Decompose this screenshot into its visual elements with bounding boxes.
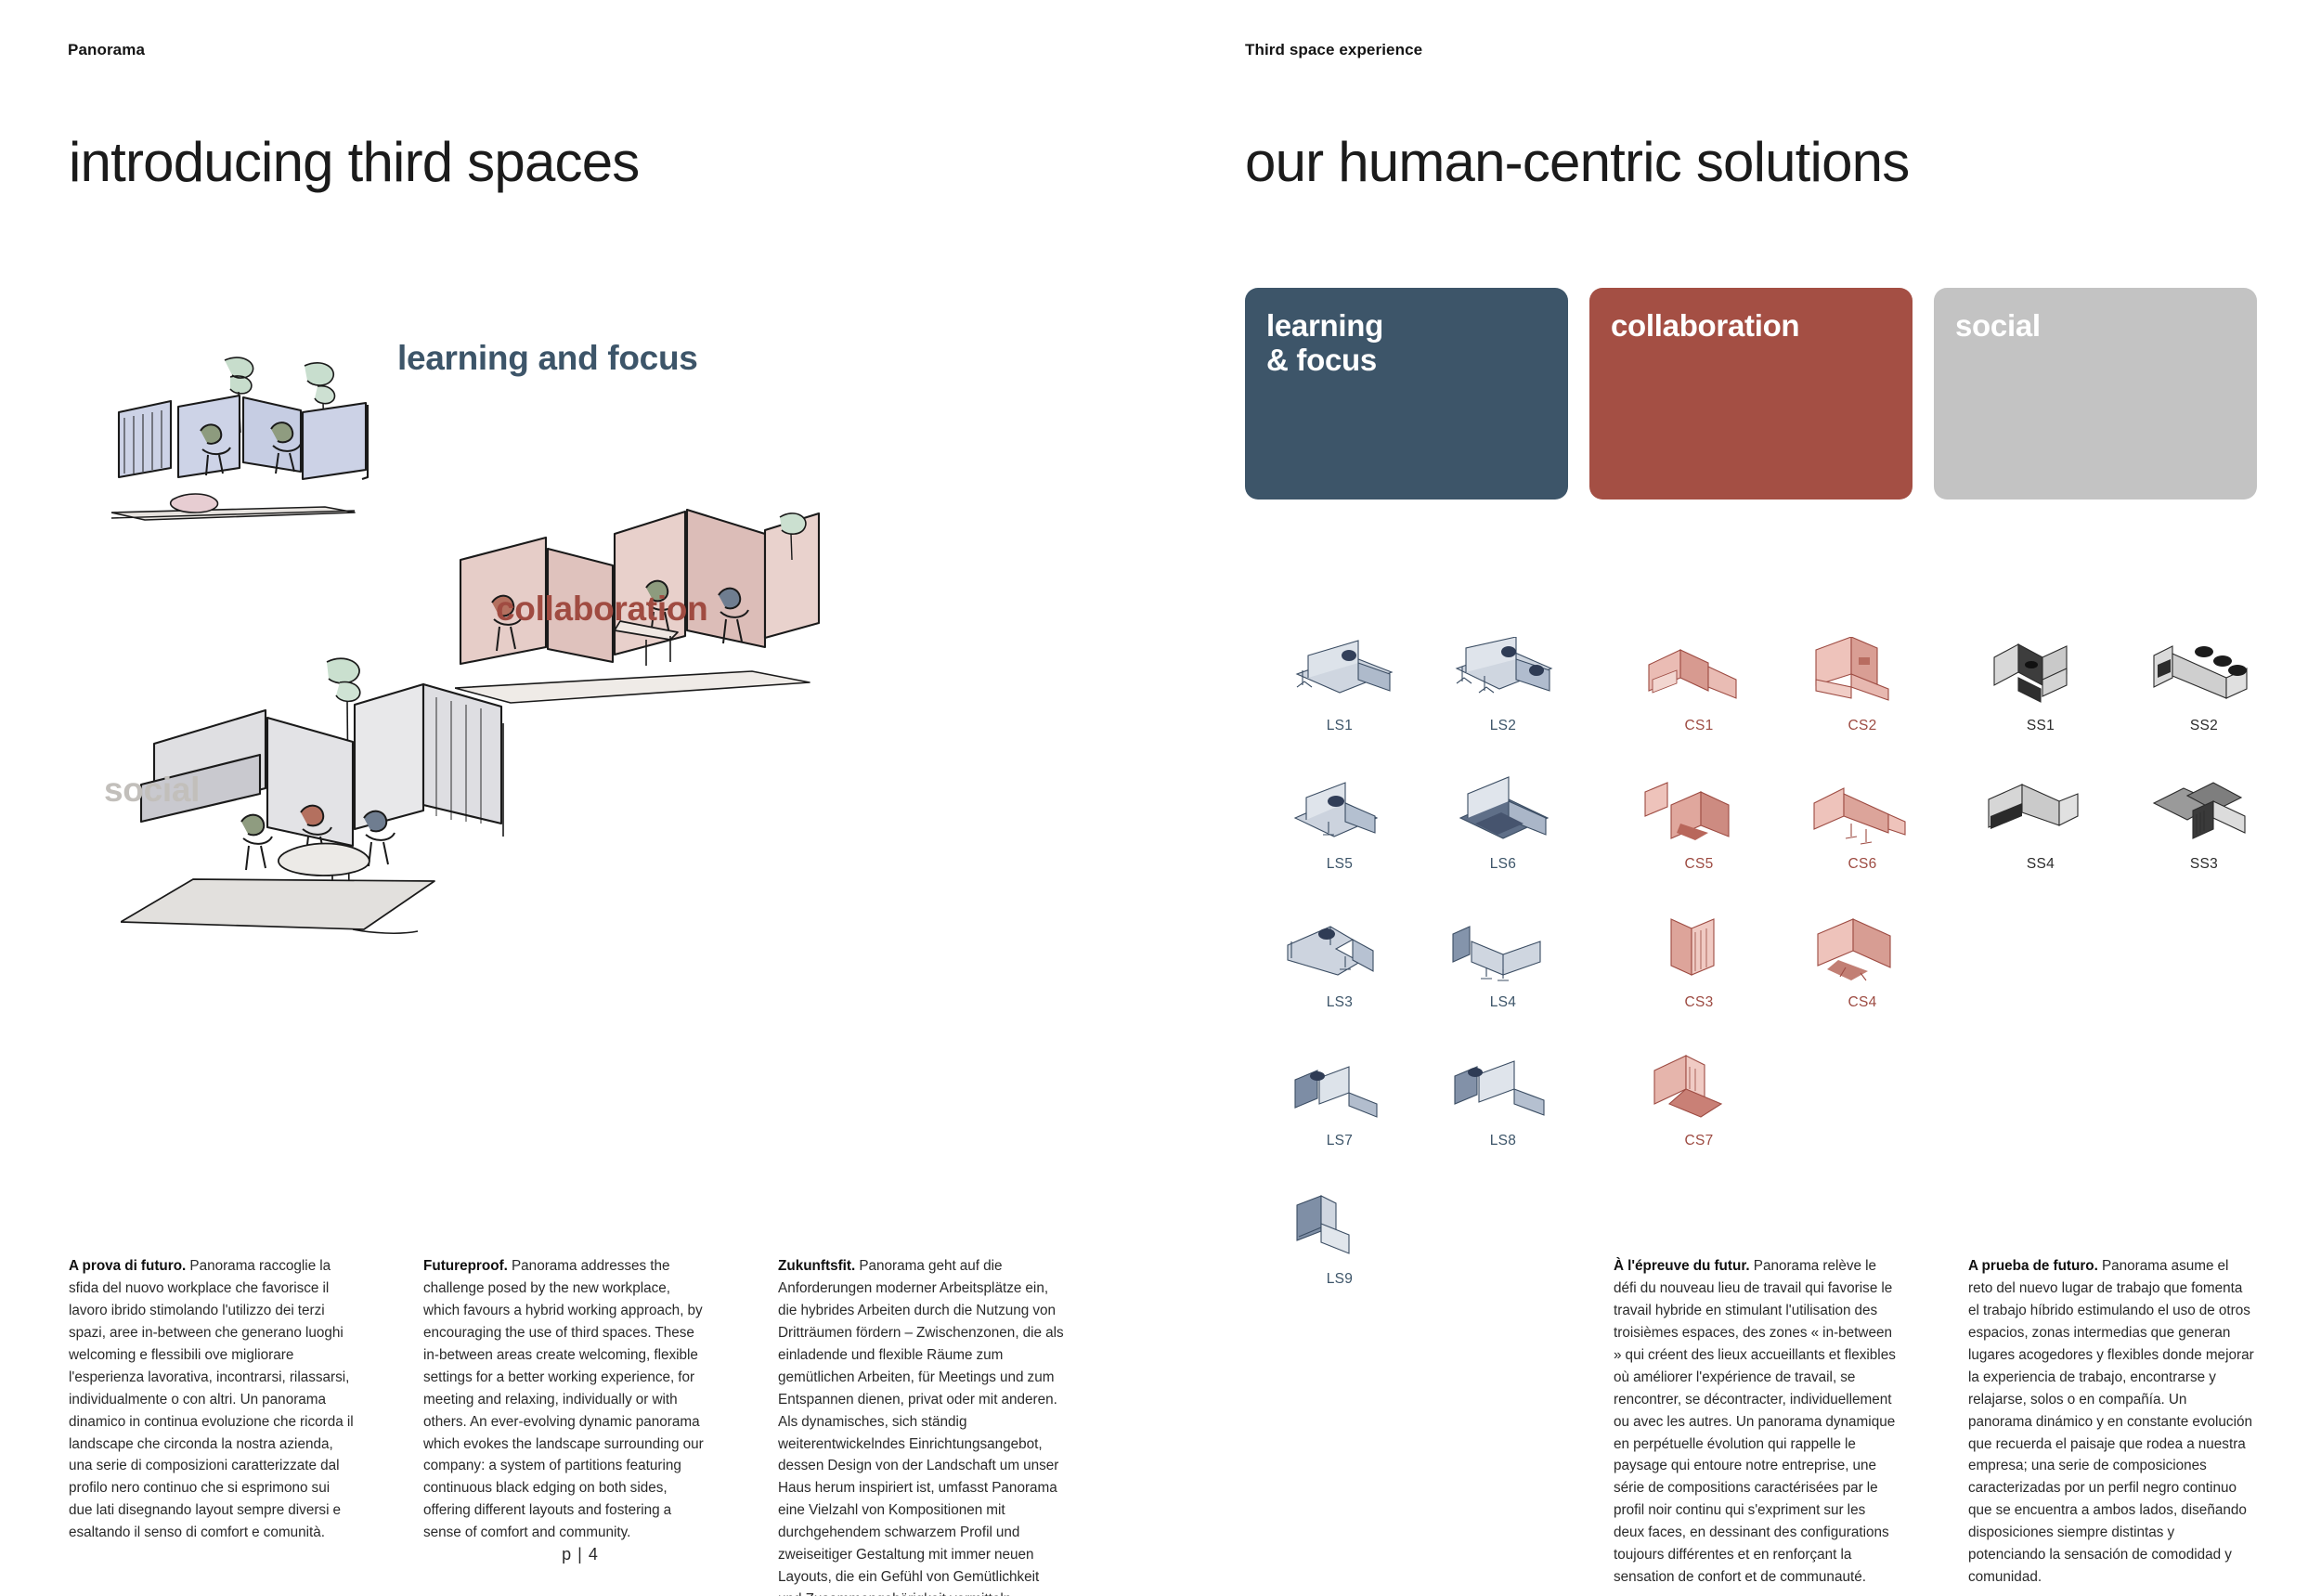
right-text-columns: À l'épreuve du futur. Panorama relève le… bbox=[1614, 1255, 2254, 1589]
product-item-empty bbox=[1421, 1185, 1585, 1288]
product-label: LS1 bbox=[1258, 718, 1421, 734]
product-thumb-icon bbox=[1421, 631, 1585, 711]
product-label: SS3 bbox=[2122, 856, 2286, 873]
category-card-social[interactable]: social bbox=[1934, 288, 2257, 500]
product-label: CS4 bbox=[1781, 994, 1944, 1011]
product-thumb-icon bbox=[1421, 1046, 1585, 1126]
product-item[interactable]: SS2 bbox=[2122, 631, 2286, 734]
running-head-left: Panorama bbox=[68, 41, 145, 59]
product-item[interactable]: LS2 bbox=[1421, 631, 1585, 734]
product-thumb-icon bbox=[1781, 908, 1944, 988]
product-item[interactable]: CS1 bbox=[1617, 631, 1781, 734]
page-title-left: introducing third spaces bbox=[69, 130, 640, 194]
product-item[interactable]: CS3 bbox=[1617, 908, 1781, 1011]
product-thumb-icon bbox=[2122, 631, 2286, 711]
product-item[interactable]: CS4 bbox=[1781, 908, 1944, 1011]
product-thumb-icon bbox=[1617, 631, 1781, 711]
product-grid-collaboration: CS1 CS2 bbox=[1617, 631, 1944, 1149]
scene-label-collaboration: collaboration bbox=[496, 590, 707, 629]
product-thumb-icon bbox=[1617, 770, 1781, 850]
product-row: CS1 CS2 bbox=[1617, 631, 1944, 734]
product-item[interactable]: LS3 bbox=[1258, 908, 1421, 1011]
product-thumb-icon bbox=[1959, 631, 2122, 711]
product-item[interactable]: CS5 bbox=[1617, 770, 1781, 873]
product-thumb-icon bbox=[1959, 770, 2122, 850]
lead-in-de: Zukunftsfit. bbox=[778, 1258, 855, 1274]
product-label: SS4 bbox=[1959, 856, 2122, 873]
product-label: SS1 bbox=[1959, 718, 2122, 734]
category-card-label: collaboration bbox=[1611, 308, 1913, 343]
product-row: SS1 SS2 bbox=[1959, 631, 2286, 734]
product-row: LS7 LS8 bbox=[1258, 1046, 1585, 1149]
product-grid-learning: LS1 LS2 bbox=[1258, 631, 1585, 1288]
product-row: CS3 CS4 bbox=[1617, 908, 1944, 1011]
product-label: CS7 bbox=[1617, 1133, 1781, 1149]
product-item[interactable]: CS6 bbox=[1781, 770, 1944, 873]
product-row: CS5 CS6 bbox=[1617, 770, 1944, 873]
text-column-es: A prueba de futuro. Panorama asume el re… bbox=[1968, 1255, 2254, 1589]
product-item[interactable]: CS2 bbox=[1781, 631, 1944, 734]
product-label: LS2 bbox=[1421, 718, 1585, 734]
product-item[interactable]: LS8 bbox=[1421, 1046, 1585, 1149]
product-thumb-icon bbox=[1421, 908, 1585, 988]
product-thumb-icon bbox=[1258, 1046, 1421, 1126]
product-thumb-placeholder bbox=[1781, 1046, 1944, 1126]
product-row: CS7 bbox=[1617, 1046, 1944, 1149]
product-item[interactable]: SS1 bbox=[1959, 631, 2122, 734]
product-item[interactable]: LS9 bbox=[1258, 1185, 1421, 1288]
running-head-right: Third space experience bbox=[1245, 41, 1422, 59]
product-label: CS5 bbox=[1617, 856, 1781, 873]
body-text-en: Panorama addresses the challenge posed b… bbox=[423, 1258, 704, 1540]
page-folio: p | 4 bbox=[0, 1545, 1160, 1564]
product-row: LS1 LS2 bbox=[1258, 631, 1585, 734]
product-thumb-icon bbox=[1258, 770, 1421, 850]
text-column-fr: À l'épreuve du futur. Panorama relève le… bbox=[1614, 1255, 1900, 1589]
product-thumb-icon bbox=[1258, 1185, 1421, 1265]
product-thumb-icon bbox=[1421, 770, 1585, 850]
product-label: LS8 bbox=[1421, 1133, 1585, 1149]
product-label: LS4 bbox=[1421, 994, 1585, 1011]
body-text-fr: Panorama relève le défi du nouveau lieu … bbox=[1614, 1258, 1896, 1585]
page-title-right: our human-centric solutions bbox=[1245, 130, 1909, 194]
product-label: LS5 bbox=[1258, 856, 1421, 873]
product-row: SS4 SS3 bbox=[1959, 770, 2286, 873]
product-label: CS6 bbox=[1781, 856, 1944, 873]
product-label: CS1 bbox=[1617, 718, 1781, 734]
product-thumb-icon bbox=[1781, 631, 1944, 711]
product-item[interactable]: LS4 bbox=[1421, 908, 1585, 1011]
category-cards: learning & focus collaboration social bbox=[1245, 288, 2257, 500]
product-thumb-icon bbox=[1617, 1046, 1781, 1126]
product-label: CS2 bbox=[1781, 718, 1944, 734]
lead-in-fr: À l'épreuve du futur. bbox=[1614, 1258, 1750, 1274]
product-label: SS2 bbox=[2122, 718, 2286, 734]
category-card-collaboration[interactable]: collaboration bbox=[1589, 288, 1913, 500]
body-text-it: Panorama raccoglie la sfida del nuovo wo… bbox=[69, 1258, 354, 1540]
third-space-illustration: learning and focus collaboration social bbox=[56, 279, 1151, 1170]
category-card-label: learning & focus bbox=[1266, 308, 1568, 378]
product-item-empty bbox=[1781, 1046, 1944, 1149]
product-item[interactable]: LS7 bbox=[1258, 1046, 1421, 1149]
lead-in-es: A prueba de futuro. bbox=[1968, 1258, 2098, 1274]
magazine-spread: Panorama introducing third spaces bbox=[0, 0, 2321, 1596]
lead-in-en: Futureproof. bbox=[423, 1258, 508, 1274]
product-row: LS9 bbox=[1258, 1185, 1585, 1288]
product-label: LS7 bbox=[1258, 1133, 1421, 1149]
product-item[interactable]: LS6 bbox=[1421, 770, 1585, 873]
product-thumb-icon bbox=[1781, 770, 1944, 850]
product-row: LS3 LS4 bbox=[1258, 908, 1585, 1011]
product-label: LS6 bbox=[1421, 856, 1585, 873]
product-thumb-placeholder bbox=[1421, 1185, 1585, 1265]
product-item[interactable]: LS1 bbox=[1258, 631, 1421, 734]
product-thumb-icon bbox=[1258, 631, 1421, 711]
product-thumb-icon bbox=[1617, 908, 1781, 988]
product-row: LS5 LS6 bbox=[1258, 770, 1585, 873]
scene-label-learning: learning and focus bbox=[397, 339, 698, 378]
scene-label-social: social bbox=[104, 771, 200, 810]
product-item[interactable]: LS5 bbox=[1258, 770, 1421, 873]
product-label: CS3 bbox=[1617, 994, 1781, 1011]
product-item[interactable]: CS7 bbox=[1617, 1046, 1781, 1149]
product-thumb-icon bbox=[1258, 908, 1421, 988]
category-card-learning[interactable]: learning & focus bbox=[1245, 288, 1568, 500]
sketch-social bbox=[121, 655, 622, 975]
product-item[interactable]: SS3 bbox=[2122, 770, 2286, 873]
product-label: LS3 bbox=[1258, 994, 1421, 1011]
product-grid-social: SS1 SS2 bbox=[1959, 631, 2286, 873]
category-card-label: social bbox=[1955, 308, 2257, 343]
product-item[interactable]: SS4 bbox=[1959, 770, 2122, 873]
body-text-es: Panorama asume el reto del nuevo lugar d… bbox=[1968, 1258, 2254, 1585]
product-thumb-icon bbox=[2122, 770, 2286, 850]
product-label: LS9 bbox=[1258, 1271, 1421, 1288]
lead-in-it: A prova di futuro. bbox=[69, 1258, 186, 1274]
